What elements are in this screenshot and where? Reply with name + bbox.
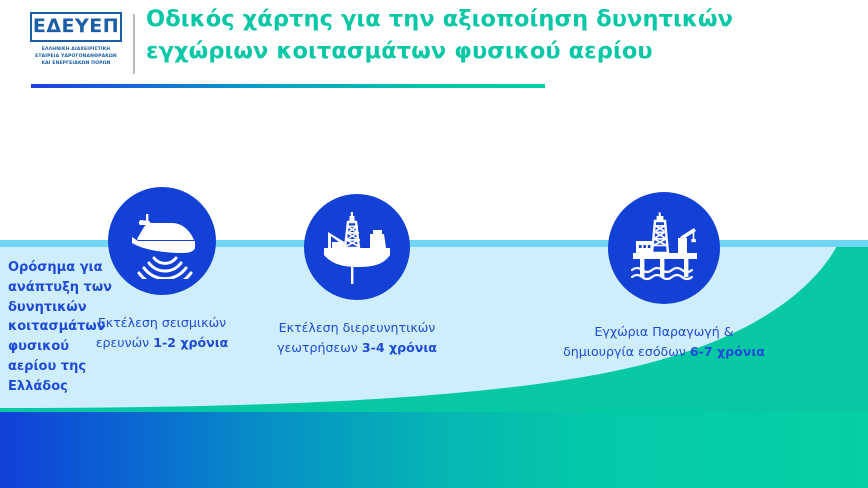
milestone-2-circle[interactable] — [304, 194, 410, 300]
page-title: Οδικός χάρτης για την αξιοποίηση δυνητικ… — [146, 4, 846, 68]
milestone-2-caption: Εκτέλεση διερευνητικών γεωτρήσεων 3-4 χρ… — [248, 318, 466, 357]
milestone-1-caption-line2: ερευνών — [96, 335, 154, 350]
milestone-1-caption: Εκτέλεση σεισμικών ερευνών 1-2 χρόνια — [58, 313, 266, 352]
milestone-1-caption-line1: Εκτέλεση σεισμικών — [98, 315, 226, 330]
drillship-icon — [318, 208, 396, 286]
milestone-2: Εκτέλεση διερευνητικών γεωτρήσεων 3-4 χρ… — [304, 194, 410, 300]
milestone-3: Εγχώρια Παραγωγή & δημιουργία εσόδων 6-7… — [608, 192, 720, 304]
milestone-2-caption-line2: γεωτρήσεων — [277, 340, 362, 355]
milestone-1-circle[interactable] — [108, 187, 216, 295]
infographic-slide: ΕΔΕΥΕΠ ΕΛΛΗΝΙΚΗ ΔΙΑΧΕΙΡΙΣΤΙΚΗ ΕΤΑΙΡΕΙΑ Υ… — [0, 0, 868, 488]
milestone-1-duration: 1-2 χρόνια — [153, 335, 228, 350]
milestone-3-circle[interactable] — [608, 192, 720, 304]
header-vertical-divider — [133, 14, 135, 74]
milestone-2-caption-line1: Εκτέλεση διερευνητικών — [279, 320, 436, 335]
milestone-3-caption-line2: δημιουργία εσόδων — [563, 344, 690, 359]
milestone-3-caption-line1: Εγχώρια Παραγωγή & — [594, 324, 733, 339]
milestone-3-duration: 6-7 χρόνια — [690, 344, 765, 359]
seismic-survey-vessel-icon — [124, 203, 200, 279]
logo-subtitle: ΕΛΛΗΝΙΚΗ ΔΙΑΧΕΙΡΙΣΤΙΚΗ ΕΤΑΙΡΕΙΑ ΥΔΡΟΓΟΝΑ… — [30, 46, 122, 67]
offshore-production-platform-icon — [624, 208, 704, 288]
bottom-gradient-bar — [0, 412, 868, 488]
header-gradient-rule — [31, 84, 545, 88]
logo-wordmark: ΕΔΕΥΕΠ — [30, 12, 122, 42]
milestone-2-duration: 3-4 χρόνια — [362, 340, 437, 355]
header: ΕΔΕΥΕΠ ΕΛΛΗΝΙΚΗ ΔΙΑΧΕΙΡΙΣΤΙΚΗ ΕΤΑΙΡΕΙΑ Υ… — [0, 0, 868, 96]
edeyep-logo: ΕΔΕΥΕΠ ΕΛΛΗΝΙΚΗ ΔΙΑΧΕΙΡΙΣΤΙΚΗ ΕΤΑΙΡΕΙΑ Υ… — [30, 12, 122, 67]
milestone-1: Εκτέλεση σεισμικών ερευνών 1-2 χρόνια — [108, 187, 216, 295]
milestone-3-caption: Εγχώρια Παραγωγή & δημιουργία εσόδων 6-7… — [558, 322, 770, 361]
